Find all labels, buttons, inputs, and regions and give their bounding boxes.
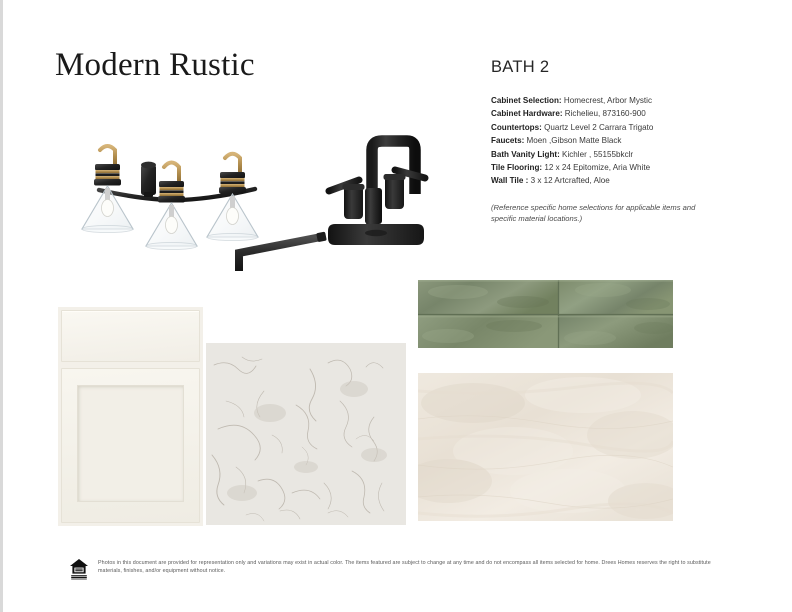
spec-row: Countertops: Quartz Level 2 Carrara Trig…	[491, 121, 741, 134]
spec-value: Quartz Level 2 Carrara Trigato	[544, 123, 653, 132]
spec-value: Moen ,Gibson Matte Black	[527, 136, 622, 145]
spec-value: 3 x 12 Artcrafted, Aloe	[531, 176, 610, 185]
spec-note: (Reference specific home selections for …	[491, 202, 713, 225]
light-head-left	[82, 146, 133, 233]
spec-label: Wall Tile :	[491, 176, 528, 185]
wall-tile-texture	[418, 280, 673, 348]
spec-value: 12 x 24 Epitomize, Aria White	[544, 163, 650, 172]
spec-row: Wall Tile : 3 x 12 Artcrafted, Aloe	[491, 174, 741, 187]
spec-row: Cabinet Hardware: Richelieu, 873160-900	[491, 107, 741, 120]
quartz-countertop-sample	[206, 343, 406, 525]
spec-row: Cabinet Selection: Homecrest, Arbor Myst…	[491, 94, 741, 107]
spec-label: Cabinet Selection:	[491, 96, 562, 105]
spec-label: Bath Vanity Light:	[491, 150, 560, 159]
room-heading: BATH 2	[491, 58, 741, 77]
equal-housing-opportunity-icon	[69, 558, 89, 580]
cabinet-pull-image	[235, 231, 343, 275]
spec-row: Faucets: Moen ,Gibson Matte Black	[491, 134, 741, 147]
design-board: Modern Rustic BATH 2 Cabinet Selection: …	[0, 0, 792, 612]
page-title: Modern Rustic	[55, 47, 255, 84]
cabinet-sample	[58, 307, 203, 526]
floor-tile-sample	[418, 373, 673, 521]
spec-row: Bath Vanity Light: Kichler , 55155bkclr	[491, 148, 741, 161]
footer: Photos in this document are provided for…	[69, 557, 729, 587]
light-backplate	[141, 162, 156, 197]
wall-tile-sample	[418, 280, 673, 348]
specification-panel: BATH 2 Cabinet Selection: Homecrest, Arb…	[491, 58, 741, 225]
spec-row: Tile Flooring: 12 x 24 Epitomize, Aria W…	[491, 161, 741, 174]
spec-label: Countertops:	[491, 123, 542, 132]
footer-disclaimer: Photos in this document are provided for…	[98, 559, 723, 576]
cabinet-drawer-front	[61, 310, 200, 362]
spec-label: Faucets:	[491, 136, 524, 145]
spec-value: Richelieu, 873160-900	[565, 109, 646, 118]
cabinet-center-panel	[77, 385, 184, 502]
spec-value: Homecrest, Arbor Mystic	[564, 96, 652, 105]
spec-label: Tile Flooring:	[491, 163, 542, 172]
spec-label: Cabinet Hardware:	[491, 109, 563, 118]
cabinet-door-front	[61, 368, 200, 523]
spec-value: Kichler , 55155bkclr	[562, 150, 633, 159]
